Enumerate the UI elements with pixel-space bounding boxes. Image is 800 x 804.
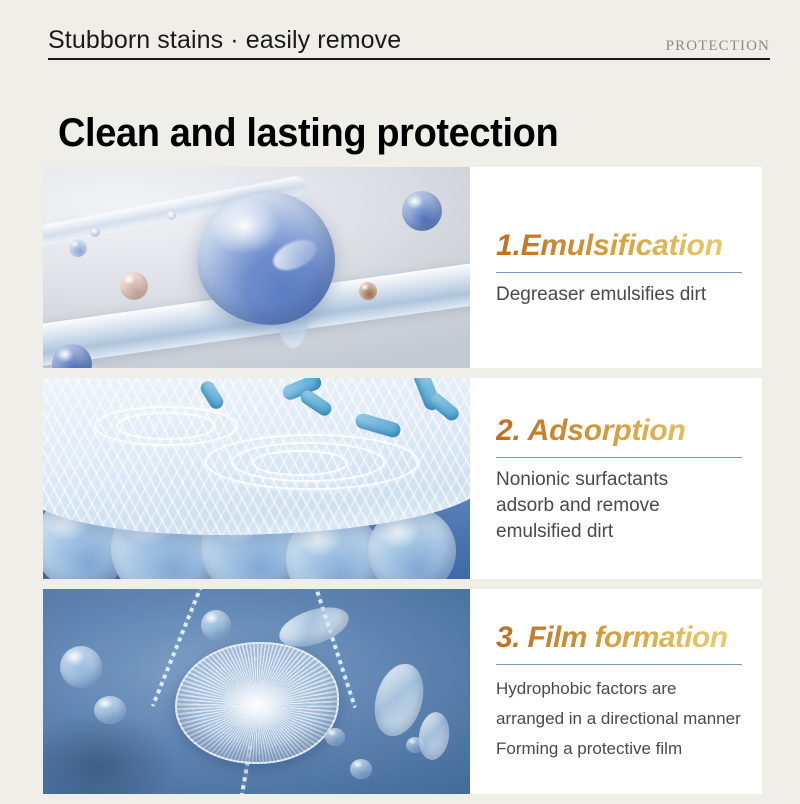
micelle-disc-shape	[175, 642, 339, 764]
bubble-shape	[90, 227, 100, 237]
step-text-panel: 3. Film formation Hydrophobic factors ar…	[470, 589, 762, 794]
step-image-adsorption	[43, 378, 470, 579]
step-card: 2. Adsorption Nonionic surfactants adsor…	[43, 378, 762, 579]
membrane-illustration	[43, 378, 470, 579]
ripple-shape	[116, 412, 216, 440]
bubble-shape	[69, 239, 87, 257]
page-header: Stubborn stains · easily remove PROTECTI…	[48, 18, 770, 60]
main-droplet-shape	[197, 191, 335, 325]
droplet-shape	[201, 610, 231, 640]
step-text-panel: 2. Adsorption Nonionic surfactants adsor…	[470, 378, 762, 579]
bubble-shape	[402, 191, 442, 231]
lens-droplet-shape	[416, 710, 452, 762]
step-title: 2. Adsorption	[496, 413, 754, 449]
steps-list: 1.Emulsification Degreaser emulsifies di…	[43, 167, 762, 804]
droplet-illustration	[43, 167, 470, 368]
droplet-shape	[60, 646, 102, 688]
bubble-shape	[167, 211, 176, 220]
step-image-emulsification	[43, 167, 470, 368]
droplet-shape	[94, 696, 126, 724]
bubble-shape	[120, 272, 148, 300]
background-haze-shape	[43, 711, 189, 794]
step-text-panel: 1.Emulsification Degreaser emulsifies di…	[470, 167, 762, 368]
step-divider	[496, 272, 742, 273]
step-card: 3. Film formation Hydrophobic factors ar…	[43, 589, 762, 794]
step-card: 1.Emulsification Degreaser emulsifies di…	[43, 167, 762, 368]
step-description: Nonionic surfactants adsorb and remove e…	[496, 467, 754, 545]
step-divider	[496, 664, 742, 665]
step-description: Hydrophobic factors are arranged in a di…	[496, 674, 754, 764]
droplet-shape	[325, 728, 345, 746]
protection-badge: PROTECTION	[666, 37, 770, 58]
micelle-illustration	[43, 589, 470, 794]
step-title: 1.Emulsification	[496, 228, 754, 264]
step-divider	[496, 457, 742, 458]
page-title: Clean and lasting protection	[58, 109, 558, 157]
header-eyebrow: Stubborn stains · easily remove	[48, 25, 401, 58]
bubble-shape	[359, 282, 377, 300]
droplet-shape	[350, 759, 372, 779]
step-title: 3. Film formation	[496, 620, 754, 656]
step-image-film-formation	[43, 589, 470, 794]
step-description: Degreaser emulsifies dirt	[496, 282, 754, 308]
